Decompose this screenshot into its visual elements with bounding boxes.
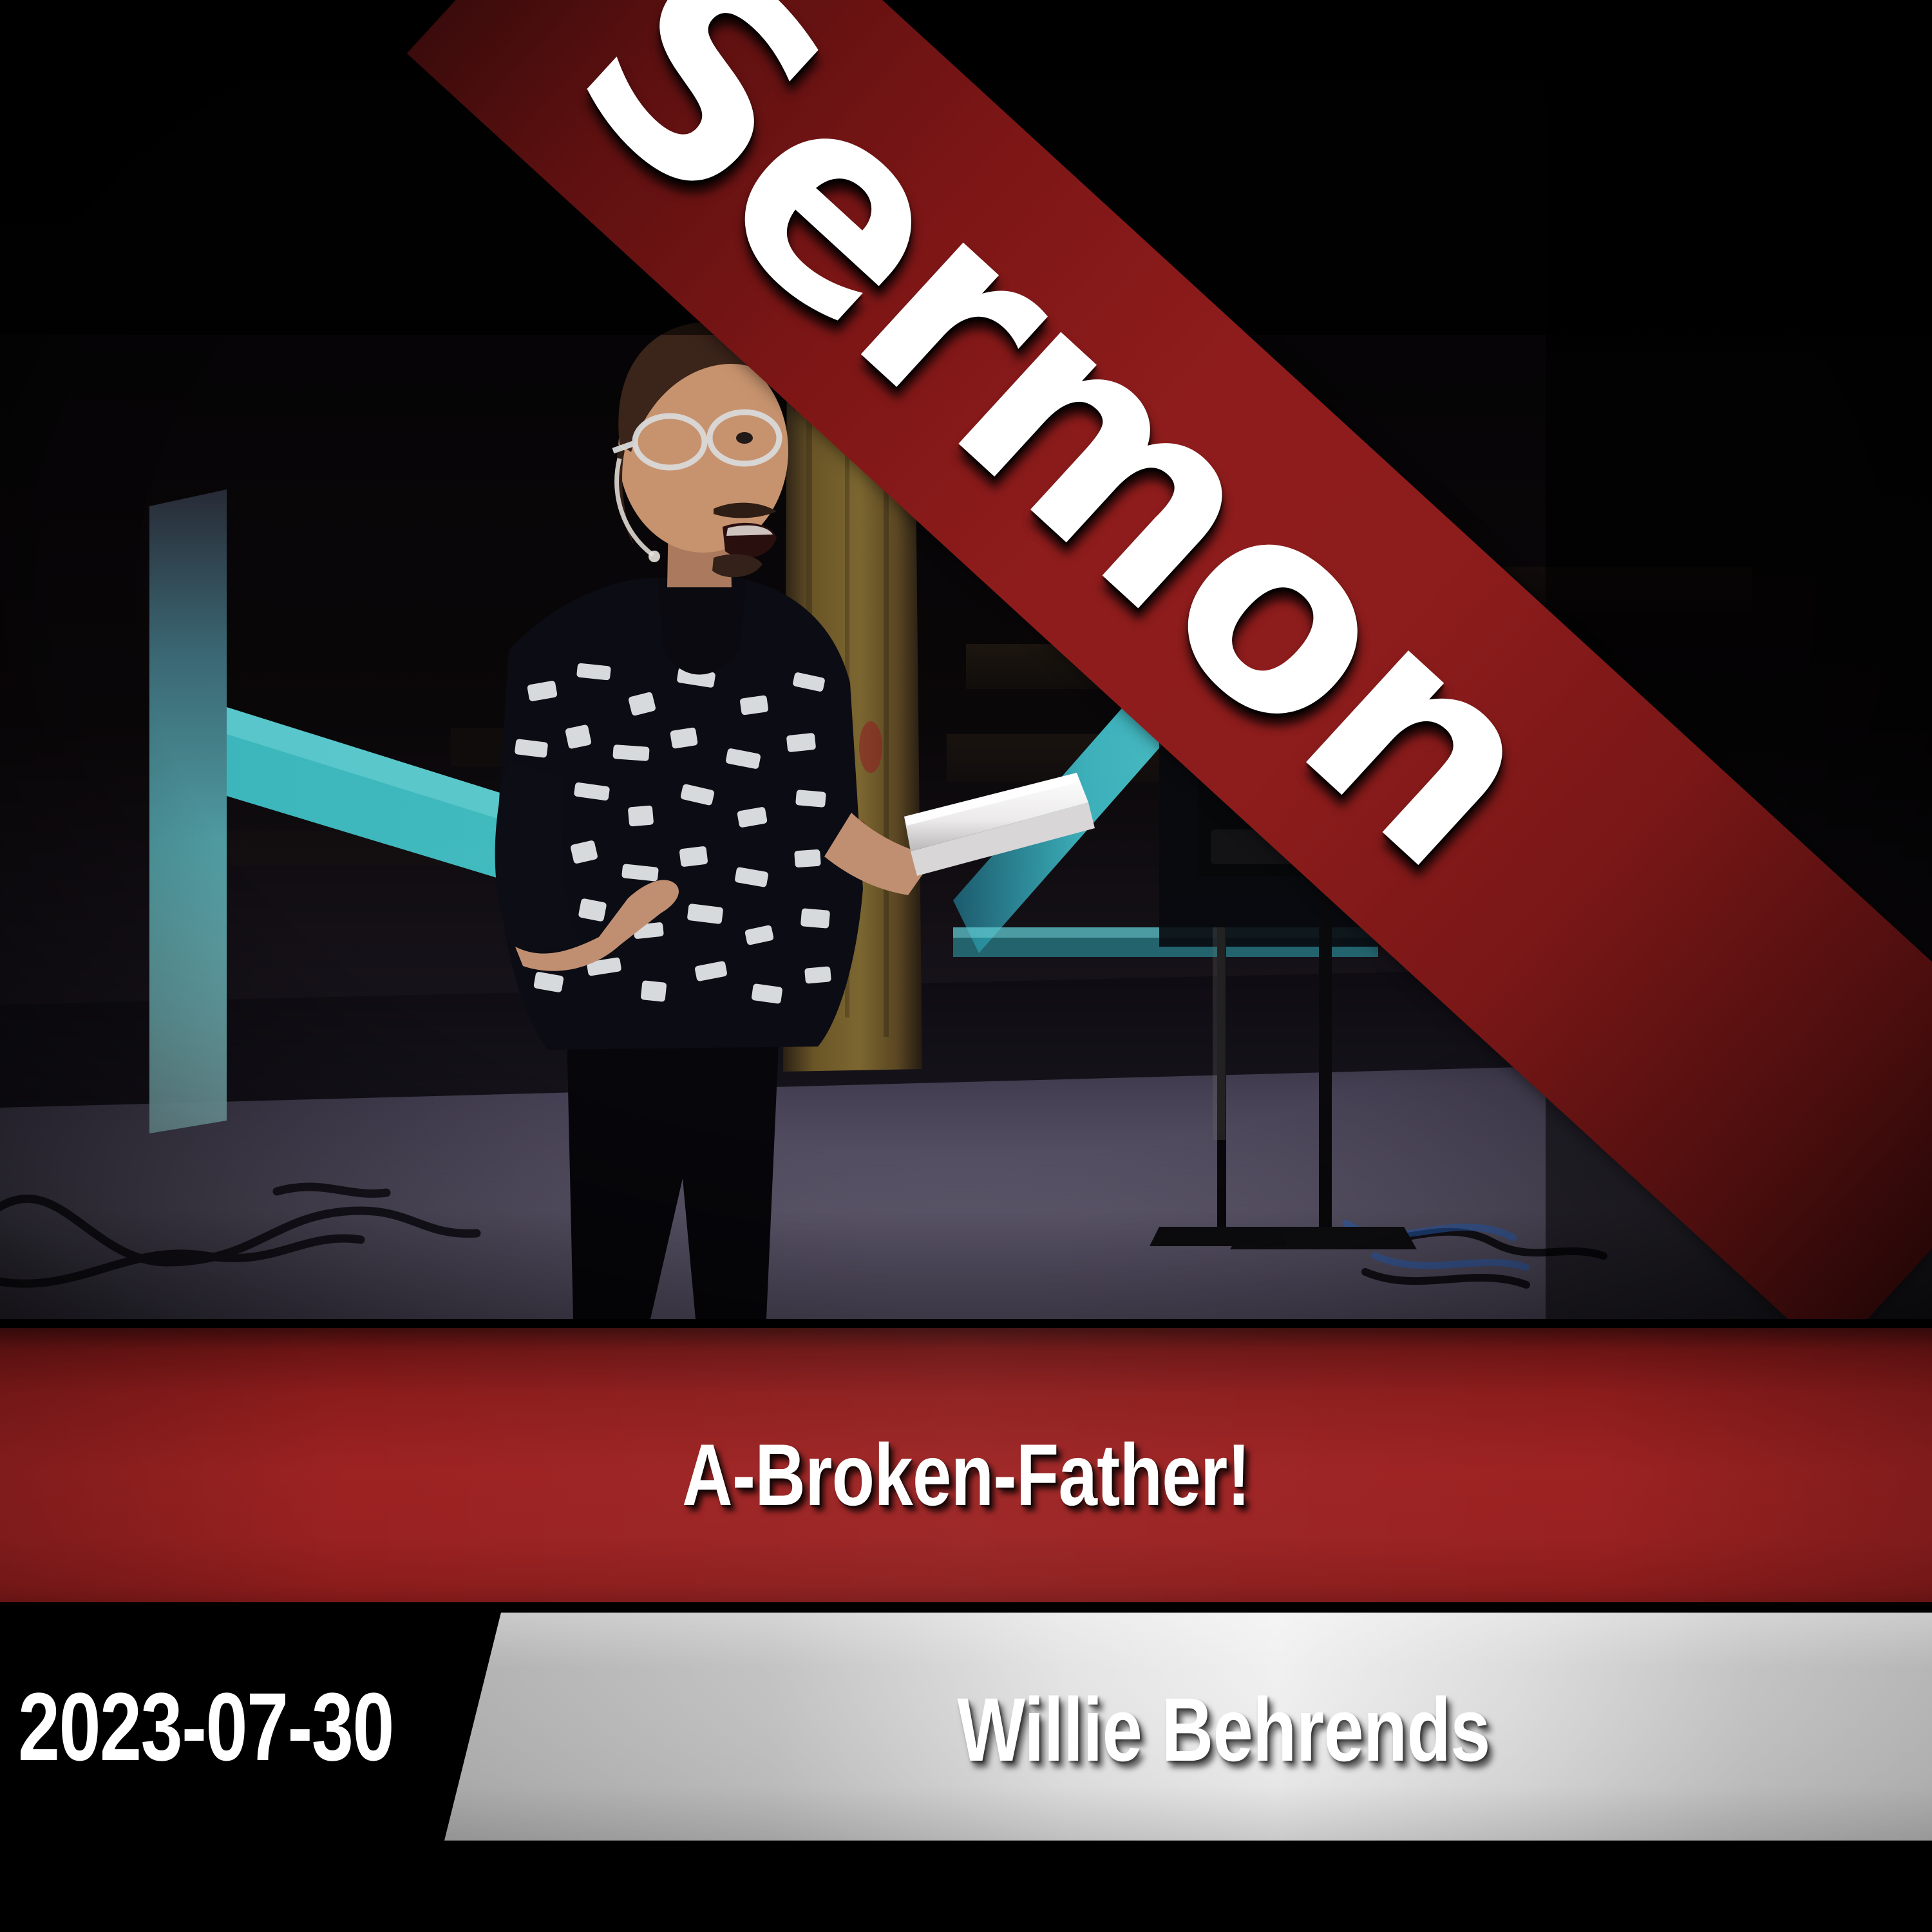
footer-bar: 2023-07-30 Willie Behrends [0,1602,1932,1932]
sermon-thumbnail-card: Sermon A-Broken-Father! [0,0,1932,1932]
sermon-photo: Sermon [0,0,1932,1319]
sermon-speaker-name: Willie Behrends [657,1685,1790,1775]
sermon-title: A-Broken-Father! [193,1431,1739,1519]
stage-scene-illustration [0,0,1932,1319]
sermon-date: 2023-07-30 [18,1678,393,1775]
title-band: A-Broken-Father! [0,1328,1932,1602]
photo-band-divider [0,1319,1932,1328]
